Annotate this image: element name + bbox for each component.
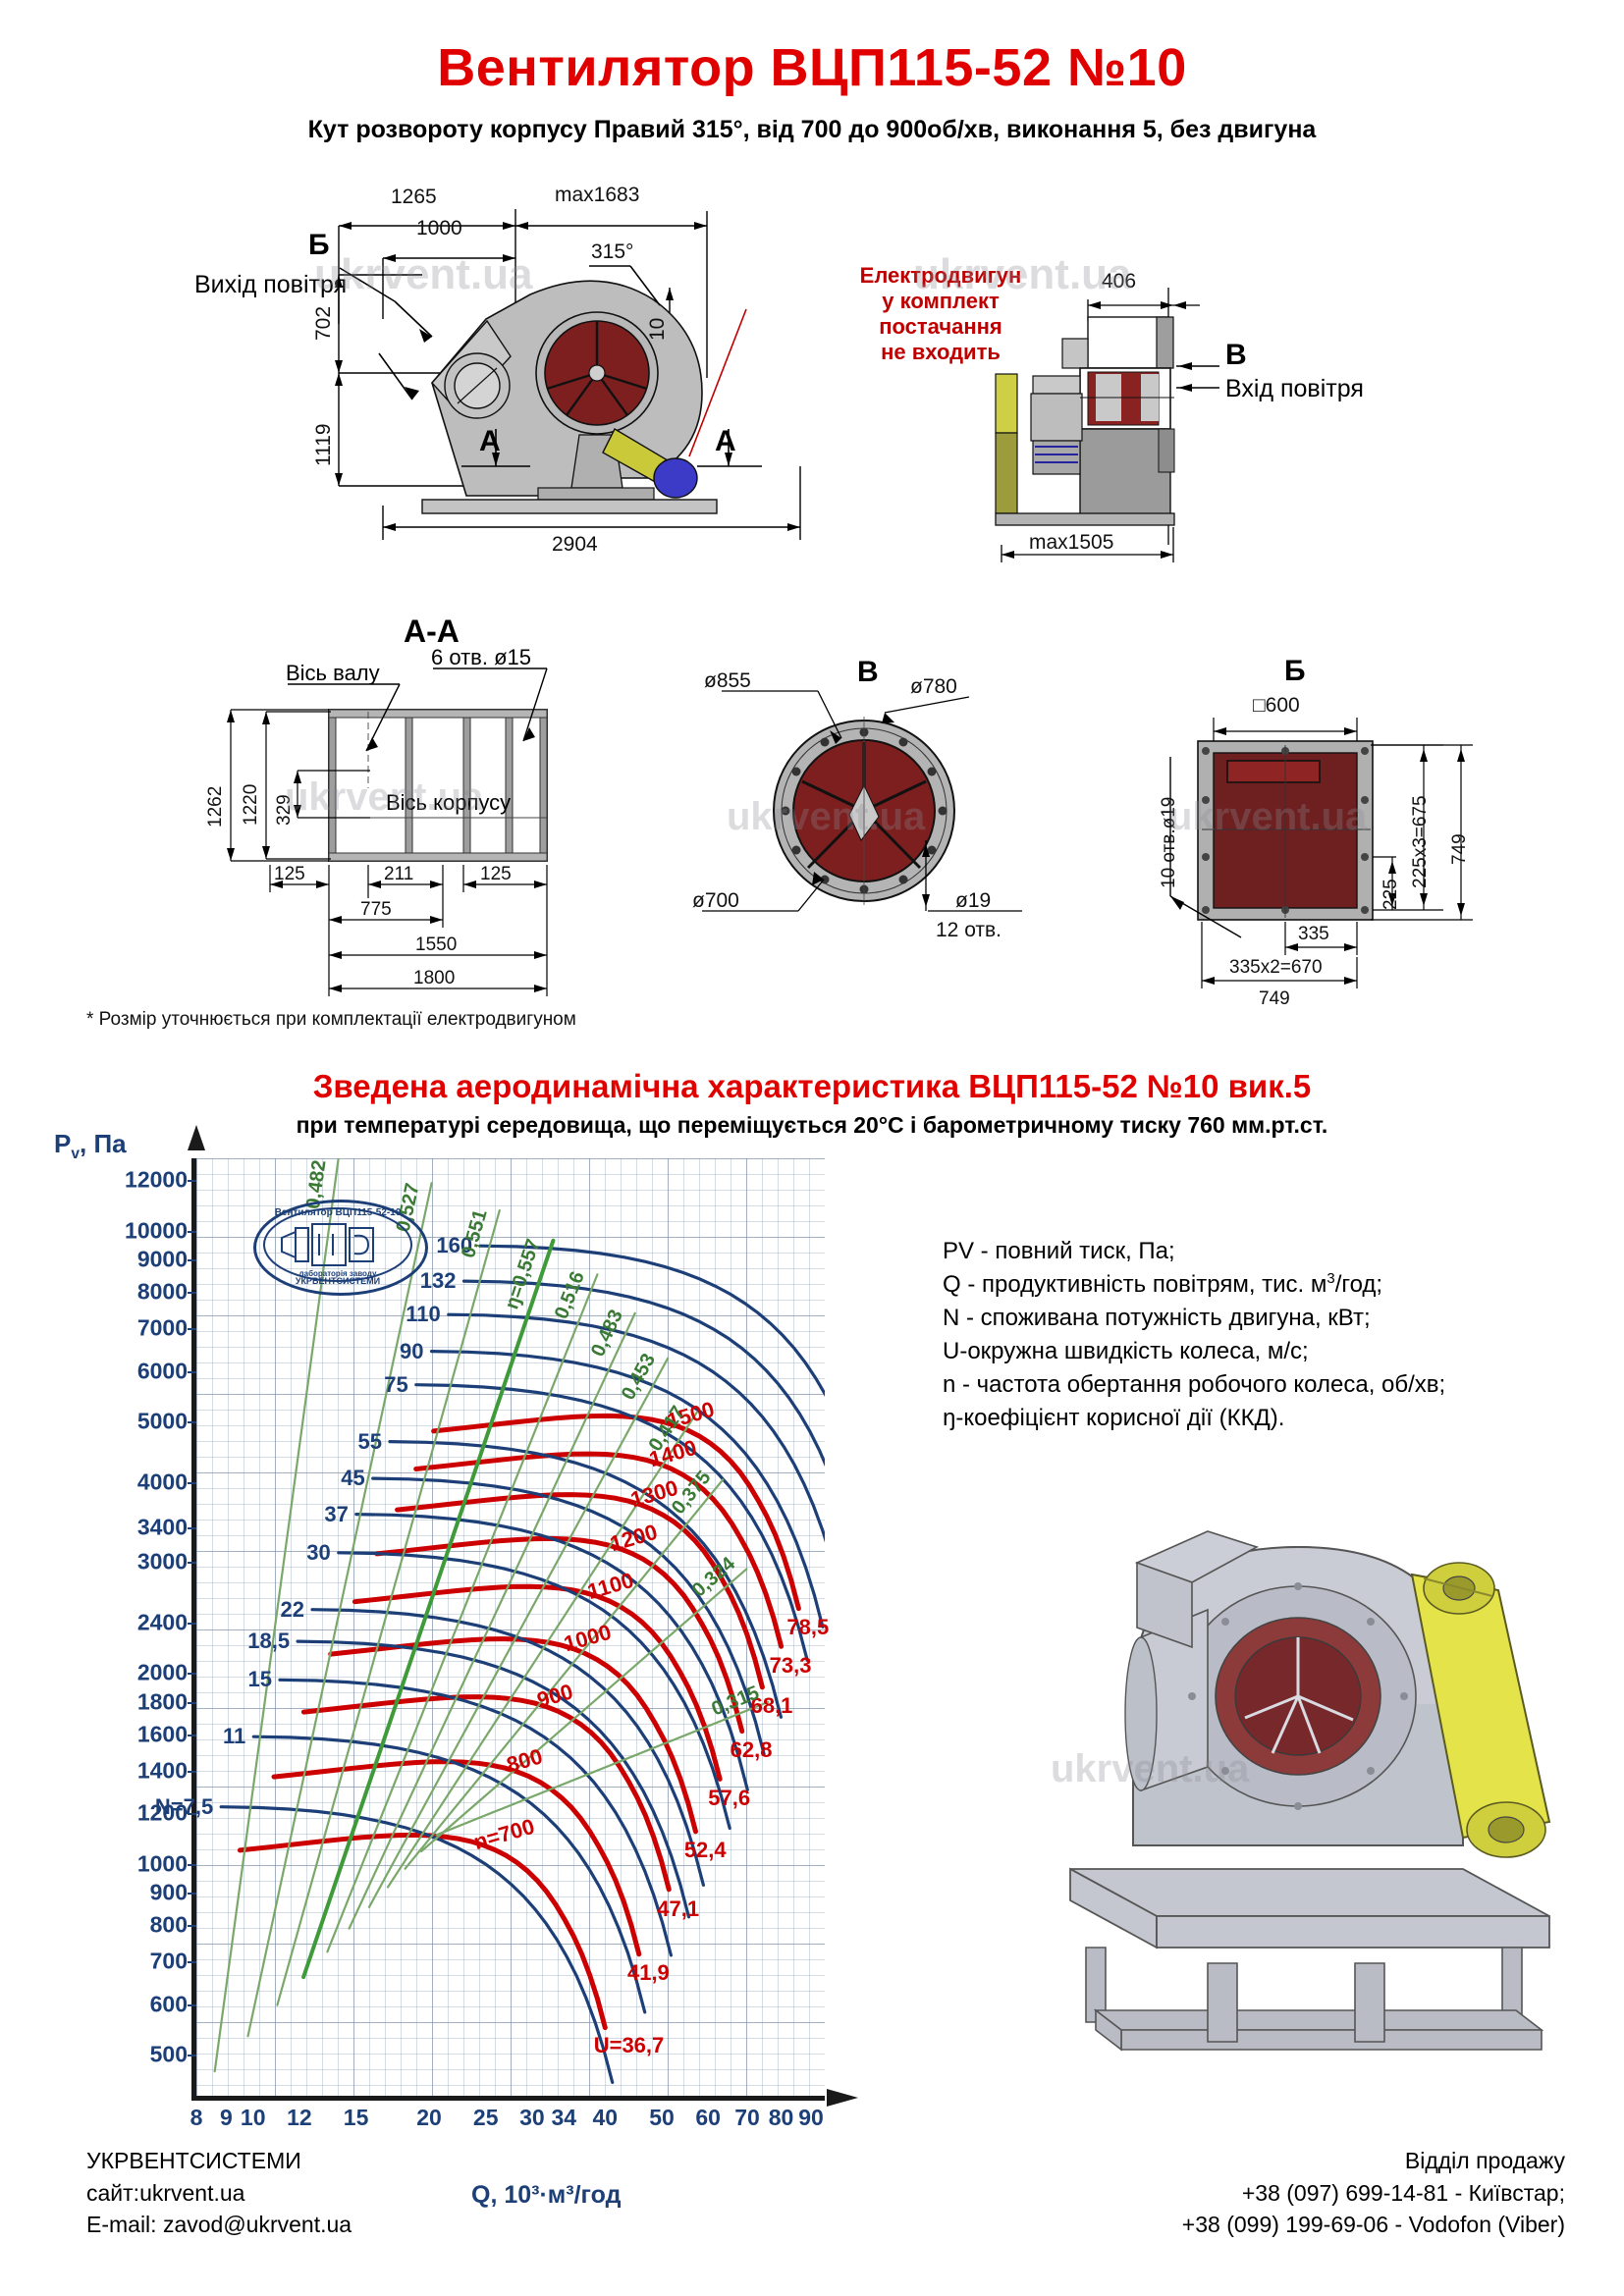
x-tick: 15 (344, 2105, 369, 2131)
y-tick: 4000 (137, 1469, 188, 1496)
side-view-svg (972, 250, 1384, 564)
legend-line-4: U-окружна швидкість колеса, м/с; (943, 1335, 1445, 1368)
curve-label: 78,5 (786, 1615, 829, 1640)
curve-label: 41,9 (627, 1960, 670, 1986)
y-tick: 3000 (137, 1548, 188, 1575)
y-tick-mark (188, 1421, 196, 1423)
legend-line-1: PV - повний тиск, Па; (943, 1235, 1445, 1268)
y-tick-mark (188, 1961, 196, 1963)
chart-curve (248, 1183, 432, 2036)
dim-335: 335 (1298, 924, 1329, 945)
dim-749-bottom: 749 (1259, 988, 1290, 1010)
curve-label: 11 (223, 1724, 245, 1749)
curve-label: 73,3 (770, 1653, 812, 1679)
y-tick: 6000 (137, 1358, 188, 1384)
chart-curve (274, 1762, 639, 1954)
air-inlet-label: Вхід повітря (1225, 375, 1364, 403)
product-illustration: ukrvent.ua (913, 1472, 1561, 2081)
curve-label: 47,1 (657, 1896, 699, 1922)
y-tick-mark (188, 1771, 196, 1773)
y-axis-arrow (178, 1125, 217, 1164)
x-tick: 12 (287, 2105, 312, 2131)
x-tick: 60 (695, 2105, 721, 2131)
side-view-drawing: 406 max1505 В (972, 250, 1384, 564)
curve-label: 110 (406, 1302, 441, 1327)
y-tick: 1400 (137, 1758, 188, 1785)
holes-6-note: 6 отв. ø15 (431, 645, 531, 670)
x-tick: 70 (734, 2105, 760, 2131)
y-tick: 1000 (137, 1850, 188, 1877)
dim-225x3: 225х3=675 (1410, 795, 1432, 888)
y-tick-mark (188, 1673, 196, 1675)
y-tick-mark (188, 1925, 196, 1927)
x-tick: 25 (473, 2105, 499, 2131)
y-tick-mark (188, 1231, 196, 1233)
dim-335x2: 335х2=670 (1229, 957, 1323, 979)
view-v-title: В (857, 656, 879, 689)
air-outlet-label: Вихід повітря (194, 271, 347, 299)
x-axis-label: Q, 10³·м³/год (471, 2181, 621, 2210)
legend-line-2: Q - продуктивність повітрям, тис. м3/год… (943, 1268, 1445, 1302)
curve-label: N=7,5 (155, 1794, 213, 1820)
y-tick: 5000 (137, 1408, 188, 1434)
view-aa-block: A-A (182, 614, 594, 1006)
y-tick-mark (188, 1328, 196, 1330)
curve-label: 37 (324, 1502, 348, 1527)
curve-label: 57,6 (708, 1786, 750, 1811)
y-tick-mark (188, 1893, 196, 1895)
y-tick: 600 (150, 1991, 188, 2017)
curve-label: 55 (358, 1429, 382, 1455)
y-tick: 1800 (137, 1688, 188, 1715)
x-tick: 50 (649, 2105, 675, 2131)
y-tick-mark (188, 1562, 196, 1564)
dim-1550: 1550 (415, 934, 457, 956)
y-tick: 500 (150, 2041, 188, 2067)
view-v-block: В (692, 648, 1036, 982)
dim-sq600: □600 (1253, 694, 1300, 718)
y-tick: 9000 (137, 1247, 188, 1273)
curve-label: 62,8 (731, 1737, 773, 1763)
main-view-svg (285, 172, 933, 564)
y-tick: 800 (150, 1912, 188, 1939)
y-tick: 2000 (137, 1660, 188, 1686)
footer-company: УКРВЕНТСИСТЕМИ (86, 2145, 352, 2177)
footer-email[interactable]: E-mail: zavod@ukrvent.ua (86, 2209, 352, 2241)
legend-line-6: ŋ-коефіцієнт корисної дії (ККД). (943, 1402, 1445, 1435)
dim-1220: 1220 (241, 784, 262, 826)
curve-label: 52,4 (684, 1838, 727, 1863)
dim-max1683: max1683 (555, 184, 639, 207)
dim-125-right: 125 (480, 864, 512, 885)
dim-775: 775 (360, 899, 392, 921)
curve-label: U=36,7 (594, 2033, 665, 2058)
dim-10: 10 (646, 318, 670, 341)
dim-d700: ø700 (692, 889, 739, 913)
y-tick-mark (188, 2004, 196, 2006)
page-title: Вентилятор ВЦП115-52 №10 (0, 37, 1624, 98)
x-tick: 9 (220, 2105, 233, 2131)
holes-12-note: 12 отв. (936, 919, 1001, 942)
y-tick: 700 (150, 1949, 188, 1975)
dim-1800: 1800 (413, 968, 455, 989)
y-tick-mark (188, 1292, 196, 1294)
page-subtitle: Кут розвороту корпусу Правий 315°, від 7… (0, 116, 1624, 144)
section-mark-b: Б (308, 229, 330, 262)
y-tick: 10000 (125, 1217, 188, 1244)
holes-10-note: 10 отв.ø19 (1159, 797, 1180, 888)
chart-curve (303, 1697, 669, 1890)
dim-702: 702 (312, 306, 336, 341)
legend-line-3: N - споживана потужність двигуна, кВт; (943, 1302, 1445, 1335)
shaft-axis-label: Вісь валу (286, 661, 380, 686)
curve-label: 22 (281, 1597, 304, 1623)
dim-d855: ø855 (704, 669, 751, 693)
y-tick: 7000 (137, 1315, 188, 1342)
x-tick: 20 (416, 2105, 442, 2131)
x-tick: 8 (190, 2105, 203, 2131)
chart-legend: PV - повний тиск, Па; Q - продуктивність… (943, 1235, 1445, 1435)
footer-right: Відділ продажу +38 (097) 699-14-81 - Киї… (1182, 2145, 1565, 2241)
section-mark-a-left: A (479, 425, 501, 458)
dim-1000: 1000 (416, 217, 462, 240)
dim-d19: ø19 (955, 889, 991, 913)
x-tick: 30 (519, 2105, 545, 2131)
dim-max1505: max1505 (1029, 531, 1113, 555)
view-b-block: Б (1119, 643, 1512, 1006)
x-tick: 10 (241, 2105, 266, 2131)
legend-line-5: n - частота обертання робочого колеса, о… (943, 1368, 1445, 1402)
svg-text:Вентилятор ВЦП115-52-10: Вентилятор ВЦП115-52-10 (275, 1207, 402, 1218)
x-axis-arrow (819, 2082, 858, 2113)
dim-2904: 2904 (552, 533, 598, 557)
x-tick: 80 (769, 2105, 794, 2131)
section-mark-a-right: A (715, 425, 736, 458)
dim-406: 406 (1102, 270, 1136, 294)
y-tick: 1600 (137, 1721, 188, 1747)
chart-title: Зведена аеродинамічна характеристика ВЦП… (0, 1068, 1624, 1105)
dim-1262: 1262 (205, 786, 227, 828)
curve-label: 75 (384, 1372, 407, 1398)
dim-749-right: 749 (1449, 833, 1471, 865)
y-tick-mark (188, 1180, 196, 1182)
y-tick-mark (188, 1623, 196, 1625)
x-tick: 34 (551, 2105, 576, 2131)
curve-label: 45 (341, 1466, 364, 1491)
y-tick-mark (188, 2055, 196, 2056)
curve-label: 30 (306, 1540, 330, 1566)
footer-site[interactable]: сайт:ukrvent.ua (86, 2177, 352, 2210)
footer-left: УКРВЕНТСИСТЕМИ сайт:ukrvent.ua E-mail: z… (86, 2145, 352, 2241)
y-tick-mark (188, 1482, 196, 1484)
view-b-title: Б (1284, 655, 1306, 688)
laboratory-stamp: Вентилятор ВЦП115-52-10 лабораторія заво… (253, 1200, 428, 1296)
y-tick-mark (188, 1371, 196, 1373)
footer-sales-title: Відділ продажу (1182, 2145, 1565, 2177)
curve-label: 15 (248, 1667, 272, 1692)
y-axis-label: Pv, Па (54, 1129, 127, 1163)
curve-label: 90 (400, 1339, 423, 1364)
dim-329: 329 (274, 794, 296, 826)
dim-1119: 1119 (312, 423, 336, 466)
dim-125-left: 125 (274, 864, 305, 885)
dim-225: 225 (1380, 879, 1402, 910)
y-tick: 3400 (137, 1514, 188, 1540)
y-tick-mark (188, 1702, 196, 1704)
drawing-footnote: * Розмір уточнюється при комплектації ел… (86, 1009, 576, 1031)
y-tick-mark (188, 1735, 196, 1736)
footer-phone-1[interactable]: +38 (097) 699-14-81 - Київстар; (1182, 2177, 1565, 2210)
chart-subtitle: при температурі середовища, що переміщує… (0, 1112, 1624, 1139)
footer-phone-2[interactable]: +38 (099) 199-69-06 - Vodofon (Viber) (1182, 2209, 1565, 2241)
x-tick: 40 (592, 2105, 618, 2131)
section-mark-v: В (1225, 339, 1247, 372)
y-tick-mark (188, 1864, 196, 1866)
main-assembly-drawing: 1265 max1683 1000 315° 702 1119 10 2904 … (285, 172, 933, 564)
y-tick-mark (188, 1527, 196, 1529)
aerodynamic-chart: 5006007008009001000120014001600180020002… (191, 1158, 825, 2101)
y-tick: 900 (150, 1880, 188, 1906)
dim-211: 211 (384, 864, 413, 885)
curve-label: 18,5 (247, 1629, 290, 1654)
curve-label: 132 (420, 1268, 457, 1294)
y-tick: 12000 (125, 1167, 188, 1194)
y-tick: 8000 (137, 1279, 188, 1306)
y-tick-mark (188, 1259, 196, 1261)
dim-angle-315: 315° (591, 240, 633, 264)
dim-1265: 1265 (391, 186, 437, 209)
dim-d780: ø780 (910, 675, 957, 699)
svg-text:УКРВЕНТСИСТЕМИ: УКРВЕНТСИСТЕМИ (296, 1276, 380, 1286)
y-tick: 2400 (137, 1610, 188, 1636)
body-axis-label: Вісь корпусу (386, 790, 511, 816)
